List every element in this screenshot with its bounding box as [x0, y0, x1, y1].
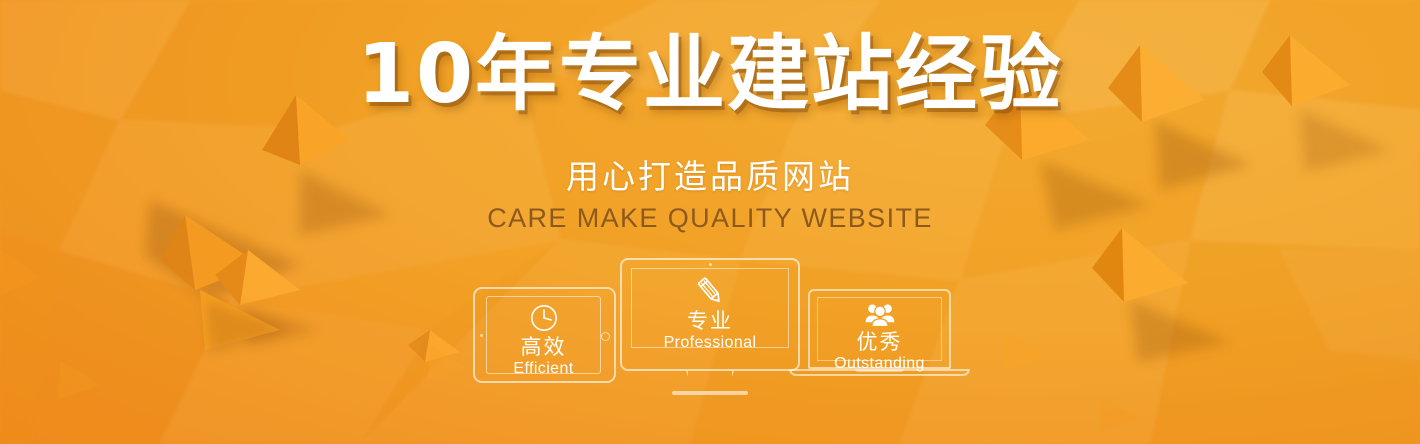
- monitor-stand-base: [672, 391, 748, 395]
- laptop-label-cn: 优秀: [818, 330, 941, 354]
- banner-subtitle-english: CARE MAKE QUALITY WEBSITE: [0, 203, 1420, 234]
- clock-icon-wrap: [487, 303, 600, 333]
- banner-headline: 10年专业建站经验: [0, 34, 1420, 116]
- monitor-stand-neck: [686, 371, 734, 393]
- tablet-label-en: Efficient: [487, 359, 600, 380]
- feature-device-monitor: 专业 Professional: [620, 258, 800, 371]
- laptop-screen: 优秀 Outstanding: [817, 297, 942, 361]
- tablet-screen: 高效 Efficient: [486, 296, 601, 374]
- tablet-label-cn: 高效: [487, 335, 600, 359]
- banner-subtitle-chinese: 用心打造品质网站: [0, 157, 1420, 197]
- feature-device-tablet: 高效 Efficient: [473, 287, 616, 383]
- pencil-icon-wrap: [632, 274, 788, 308]
- monitor-label-cn: 专业: [632, 309, 788, 333]
- tablet-home-button-icon: [601, 332, 610, 341]
- group-people-icon: [863, 302, 897, 329]
- group-people-icon-wrap: [818, 302, 941, 329]
- clock-icon: [529, 303, 559, 333]
- tablet-camera-dot: [480, 334, 483, 337]
- promo-banner: 10年专业建站经验 用心打造品质网站 CARE MAKE QUALITY WEB…: [0, 0, 1420, 444]
- pencil-icon: [693, 274, 727, 308]
- monitor-screen: 专业 Professional: [631, 268, 789, 348]
- monitor-camera-dot: [709, 263, 712, 266]
- laptop-trackpad-notch: [855, 369, 904, 372]
- monitor-label-en: Professional: [632, 333, 788, 354]
- feature-device-laptop: 优秀 Outstanding: [808, 289, 951, 369]
